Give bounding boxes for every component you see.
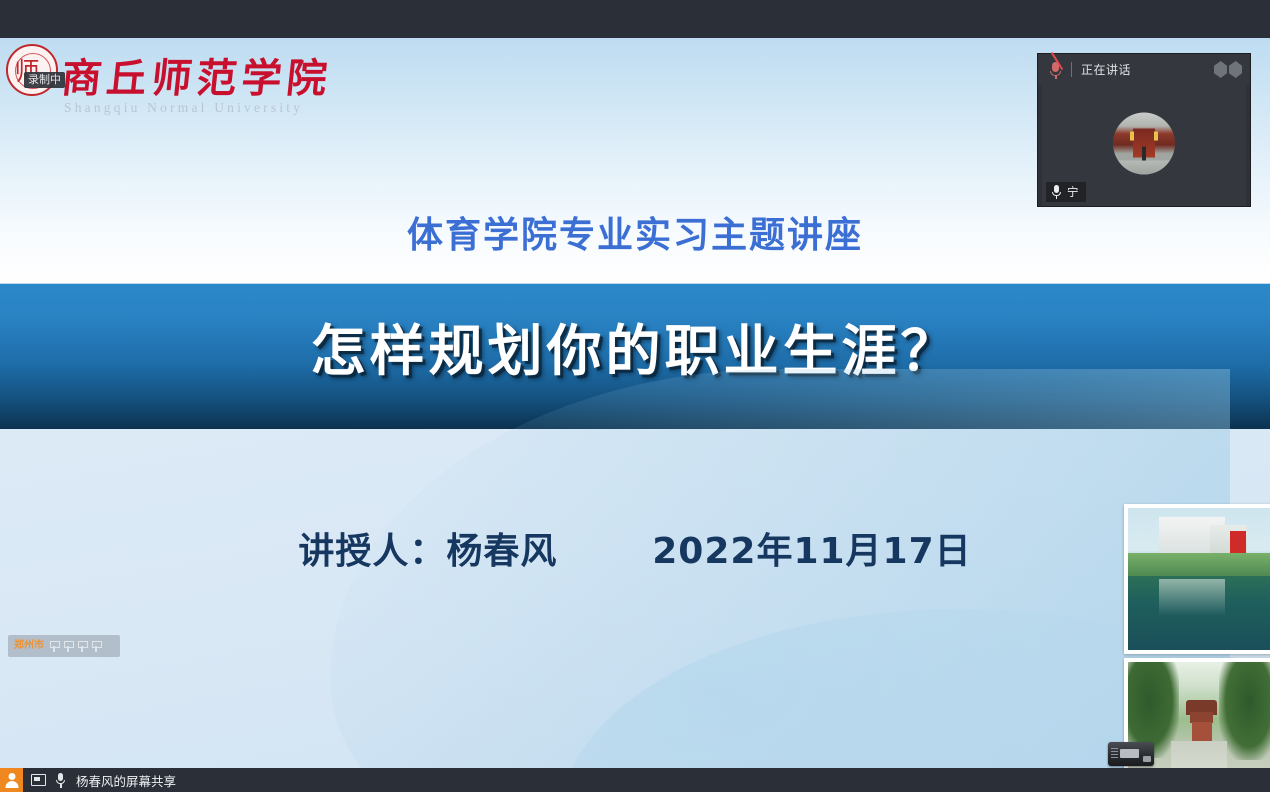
video-feed-area[interactable]: 宁 <box>1042 85 1246 206</box>
participant-badge: 宁 <box>1046 182 1086 202</box>
media-screen-icon <box>1120 749 1139 758</box>
person-glyph-icon[interactable] <box>64 641 72 652</box>
person-glyph-icon[interactable] <box>92 641 100 652</box>
recording-badge: 录制中 <box>24 72 65 88</box>
header-divider <box>1071 62 1072 77</box>
chevron-collapse-icon[interactable] <box>1214 61 1242 78</box>
screen-share-window: 商丘师范学院 Shangqiu Normal University 录制中 体育… <box>0 0 1270 792</box>
presenter-line: 讲授人：杨春风 2022年11月17日 <box>0 522 1270 574</box>
presenter-name: 讲授人：杨春风 <box>298 531 557 572</box>
person-glyph-icon[interactable] <box>50 641 58 652</box>
mic-on-icon <box>1051 185 1062 199</box>
floating-media-control[interactable] <box>1108 742 1154 766</box>
participant-name: 宁 <box>1067 184 1079 200</box>
window-top-bar <box>0 0 1270 38</box>
ppt-floating-toolbar[interactable]: 郑州市 <box>8 635 120 657</box>
screen-share-label: 杨春风的屏幕共享 <box>76 771 176 790</box>
user-icon[interactable] <box>0 768 23 792</box>
video-panel-header: 正在讲话 <box>1038 54 1250 85</box>
university-seal-icon <box>6 44 58 96</box>
lecture-date: 2022年11月17日 <box>652 531 971 572</box>
video-thumbnail-panel[interactable]: 正在讲话 宁 <box>1038 54 1250 206</box>
speaking-status-label: 正在讲话 <box>1081 61 1131 78</box>
slide-body: 讲授人：杨春风 2022年11月17日 <box>0 429 1270 768</box>
slide-subtitle: 体育学院专业实习主题讲座 <box>0 206 1270 258</box>
university-name-cn: 商丘师范学院 <box>59 46 335 104</box>
university-logo: 商丘师范学院 Shangqiu Normal University <box>4 42 304 137</box>
ppt-overlay-watermark: 郑州市 <box>14 641 44 651</box>
avatar <box>1113 112 1175 174</box>
mic-muted-icon[interactable] <box>1048 61 1064 79</box>
media-action-button[interactable] <box>1143 756 1151 762</box>
person-glyph-icon[interactable] <box>78 641 86 652</box>
university-name-en: Shangqiu Normal University <box>64 100 303 116</box>
photo-campus-building-reflection <box>1124 504 1270 654</box>
bottom-taskbar: 杨春风的屏幕共享 <box>0 768 1270 792</box>
mic-icon[interactable] <box>55 773 66 788</box>
media-grip-icon <box>1111 748 1118 759</box>
screen-share-icon[interactable] <box>31 774 46 786</box>
